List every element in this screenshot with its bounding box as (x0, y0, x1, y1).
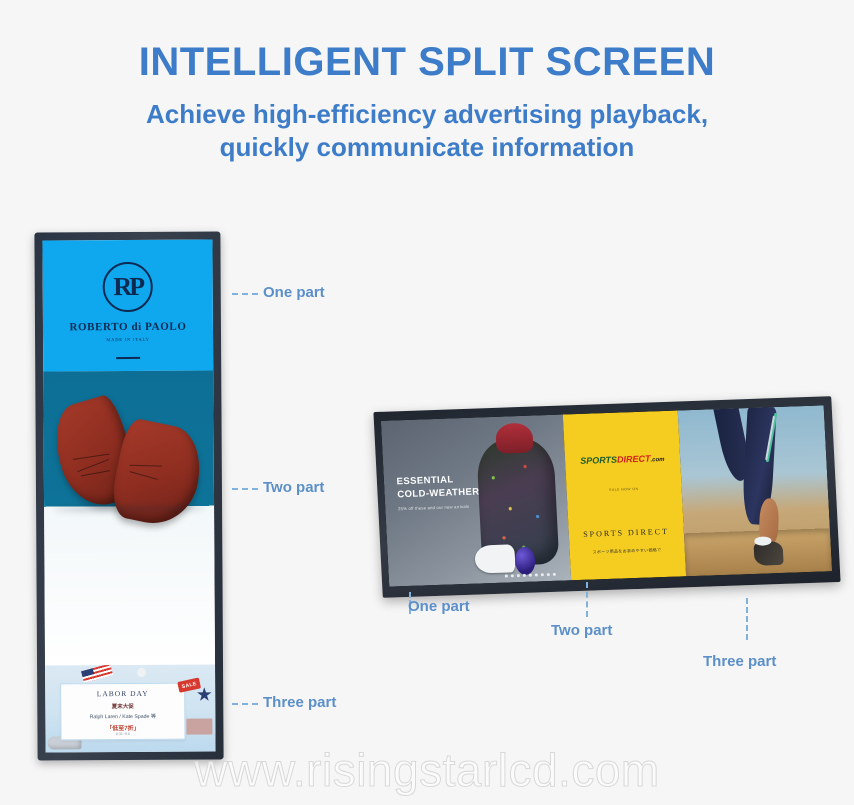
heading-block: INTELLIGENT SPLIT SCREEN Achieve high-ef… (0, 40, 854, 165)
portrait-callout-line-three (232, 703, 258, 705)
brand-sub: MADE IN ITALY (43, 336, 213, 342)
labor-day-card: LABOR DAY 夏末大促 Ralph Laren / Kate Spade … (60, 683, 185, 741)
tube-decor-icon (137, 668, 146, 677)
portrait-screen: RP ROBERTO di PAOLO MADE IN ITALY (42, 239, 215, 752)
page-stage: INTELLIGENT SPLIT SCREEN Achieve high-ef… (0, 0, 854, 805)
sportsdirect-logo-part2: DIRECT (617, 453, 651, 464)
site-watermark: www.risingstarlcd.com (0, 743, 854, 797)
landscape-callout-two: Two part (551, 622, 612, 639)
white-shoe-icon (474, 544, 515, 574)
sportsdirect-name: SPORTS DIRECT (568, 527, 684, 540)
page-subtitle-line1: Achieve high-efficiency advertising play… (0, 98, 854, 131)
landscape-callout-line-two (586, 582, 588, 617)
labor-day-discount: 「低至7折」 (62, 722, 184, 732)
labor-day-dates: 8.31~9.6 (62, 732, 184, 737)
labor-day-title: LABOR DAY (61, 689, 183, 699)
landscape-panel-three (678, 405, 833, 576)
portrait-panel-two (43, 370, 215, 665)
sportsdirect-logo-part1: SPORTS (580, 454, 617, 465)
portrait-display: RP ROBERTO di PAOLO MADE IN ITALY (34, 231, 223, 760)
roberto-paolo-monogram-icon: RP (103, 262, 153, 312)
running-shoe-icon (753, 541, 783, 565)
portrait-panel-one: RP ROBERTO di PAOLO MADE IN ITALY (42, 239, 213, 371)
landscape-callout-one: One part (408, 598, 470, 615)
brand-name: ROBERTO di PAOLO (43, 320, 213, 333)
sportsdirect-cjk-text: スポーツ用品をお求めやすい価格で (569, 546, 684, 556)
labor-day-brands: Ralph Laren / Kate Spade 等 (62, 712, 184, 720)
star-icon (197, 687, 212, 702)
page-subtitle-line2: quickly communicate information (0, 131, 854, 164)
sportsdirect-mini-text: SALE NOW ON (566, 485, 681, 493)
portrait-callout-line-one (232, 293, 258, 295)
portrait-callout-two: Two part (263, 479, 324, 496)
box-decor-icon (186, 718, 212, 734)
portrait-callout-line-two (232, 488, 258, 490)
landscape-callout-line-three (746, 598, 748, 640)
carousel-dots (505, 573, 556, 578)
labor-day-cjk: 夏末大促 (62, 701, 184, 710)
sale-badge: SALE (177, 677, 201, 692)
portrait-callout-three: Three part (263, 694, 336, 711)
sportsdirect-logo: SPORTSDIRECT.com (564, 452, 680, 466)
cold-weather-subtext: 25% off these and our new arrivals (398, 504, 469, 511)
landscape-display: ESSENTIAL COLD-WEATHER GEAR 25% off thes… (373, 396, 840, 598)
landscape-callout-three: Three part (703, 653, 776, 670)
monogram-glyph: RP (113, 272, 142, 302)
portrait-callout-one: One part (263, 284, 325, 301)
landscape-panel-one: ESSENTIAL COLD-WEATHER GEAR 25% off thes… (381, 415, 571, 587)
portrait-panel-three: LABOR DAY 夏末大促 Ralph Laren / Kate Spade … (45, 664, 216, 752)
sale-badge-label: SALE (181, 680, 197, 689)
brand-divider (116, 357, 140, 359)
sportsdirect-logo-part3: .com (650, 456, 664, 462)
usa-flag-icon (81, 664, 113, 682)
landscape-panel-two: SPORTSDIRECT.com SALE NOW ON SPORTS DIRE… (562, 410, 686, 580)
landscape-screen: ESSENTIAL COLD-WEATHER GEAR 25% off thes… (381, 405, 832, 586)
page-title: INTELLIGENT SPLIT SCREEN (0, 40, 854, 84)
